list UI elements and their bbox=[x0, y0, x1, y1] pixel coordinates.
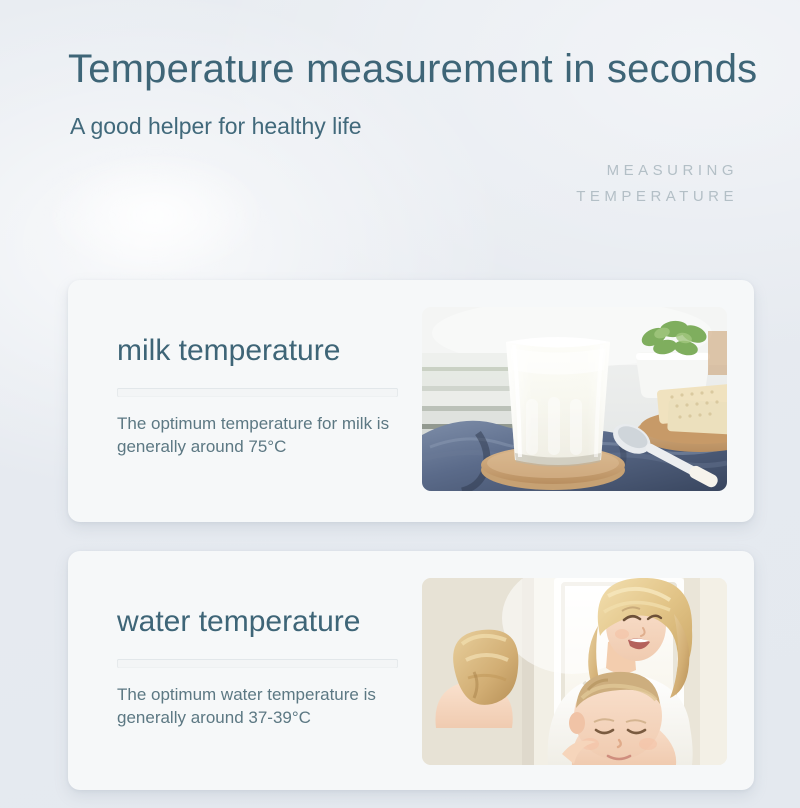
card-water-title: water temperature bbox=[117, 603, 417, 641]
watermark-line-1: MEASURING bbox=[576, 158, 738, 184]
page-title: Temperature measurement in seconds bbox=[68, 44, 757, 94]
card-milk-text-block: milk temperature The optimum temperature… bbox=[117, 332, 417, 458]
card-milk-temperature[interactable]: milk temperature The optimum temperature… bbox=[68, 280, 754, 522]
card-water-temperature[interactable]: water temperature The optimum water temp… bbox=[68, 551, 754, 790]
card-water-text-block: water temperature The optimum water temp… bbox=[117, 603, 417, 729]
page-subtitle: A good helper for healthy life bbox=[70, 111, 362, 141]
watermark-text: MEASURING TEMPERATURE bbox=[576, 158, 738, 210]
water-photo-illustration bbox=[422, 578, 727, 765]
page-header: Temperature measurement in seconds A goo… bbox=[0, 0, 800, 260]
watermark-line-2: TEMPERATURE bbox=[576, 184, 738, 210]
card-water-divider bbox=[117, 659, 398, 668]
card-milk-description: The optimum temperature for milk is gene… bbox=[117, 412, 417, 458]
milk-photo-illustration bbox=[422, 307, 727, 491]
card-milk-divider bbox=[117, 388, 398, 397]
card-water-photo bbox=[422, 578, 727, 765]
card-milk-photo bbox=[422, 307, 727, 491]
card-milk-title: milk temperature bbox=[117, 332, 417, 370]
card-water-description: The optimum water temperature is general… bbox=[117, 683, 417, 729]
